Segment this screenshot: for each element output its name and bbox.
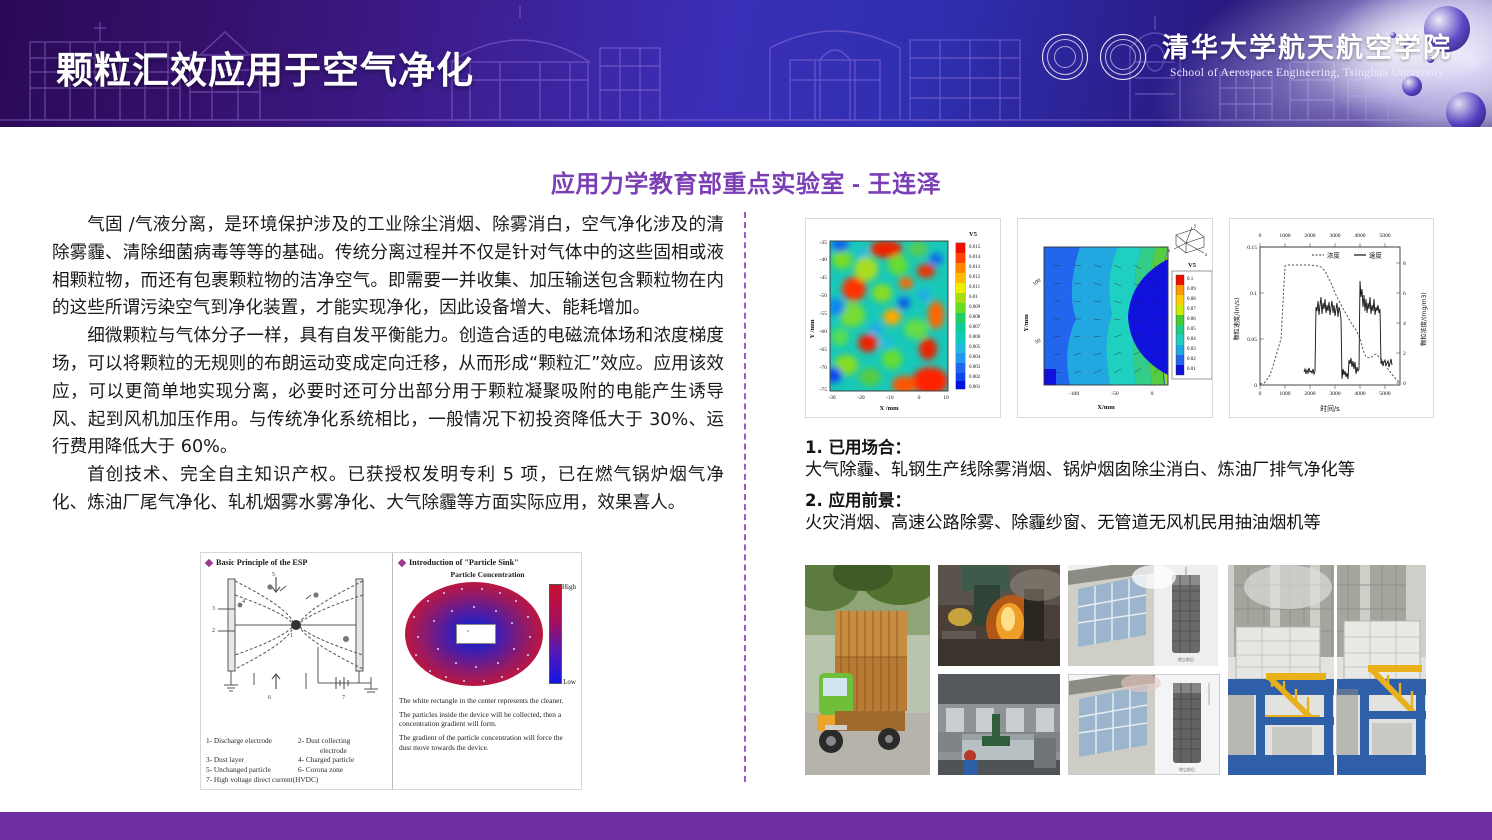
svg-text:6: 6: [1403, 291, 1406, 297]
svg-text:-30: -30: [828, 395, 836, 401]
svg-text:-75: -75: [820, 387, 828, 393]
chart-2-xlabel: X/mm: [1097, 404, 1115, 411]
svg-text:0.012: 0.012: [969, 275, 981, 280]
svg-text:0.005: 0.005: [969, 345, 981, 350]
svg-text:3000: 3000: [1329, 391, 1340, 397]
slide-header: 颗粒汇效应用于空气净化 清华大学航天航空学院 School of Aerospa…: [0, 0, 1492, 127]
svg-text:0.004: 0.004: [969, 355, 981, 360]
body-paragraph-2: 细微颗粒与气体分子一样，具有自发平衡能力。创造合适的电磁流体场和浓度梯度场，可以…: [52, 323, 724, 462]
chart-2-colorbar: V5 0.10.090.08 0.070.060.05 0.04: [1172, 262, 1212, 379]
svg-text:-70: -70: [820, 365, 828, 371]
note-line: The gradient of the particle concentrati…: [399, 733, 576, 752]
svg-text:3: 3: [212, 606, 215, 612]
esp-legend-item: electrode: [298, 746, 347, 756]
svg-text:V5: V5: [969, 231, 978, 238]
chart-3-y2label: 颗粒浓度/(mg/m3): [1420, 292, 1428, 346]
svg-text:0: 0: [918, 395, 921, 401]
left-text-column: 气固 /气液分离，是环境保护涉及的工业除尘消烟、除雾消白，空气净化涉及的清除雾霾…: [52, 212, 724, 518]
note-line: The white rectangle in the center repres…: [399, 696, 576, 706]
svg-text:速度: 速度: [1369, 251, 1382, 260]
svg-text:0.006: 0.006: [969, 335, 981, 340]
bullet-body-2: 火灾消烟、高速公路除雾、除霾纱窗、无管道无风机民用抽油烟机等: [805, 511, 1445, 537]
slide-subtitle: 应用力学教育部重点实验室 - 王连泽: [0, 164, 1492, 199]
aerospace-school-seal-icon: [1100, 34, 1146, 80]
bullet-head-2: 2. 应用前景：: [805, 487, 1445, 511]
esp-legend-list: 1- Discharge electrode2- Dust collecting…: [206, 736, 388, 785]
body-paragraph-1: 气固 /气液分离，是环境保护涉及的工业除尘消烟、除雾消白，空气净化涉及的清除雾霾…: [52, 212, 724, 323]
svg-text:2: 2: [212, 628, 215, 634]
svg-text:0.009: 0.009: [969, 305, 981, 310]
svg-text:0.002: 0.002: [969, 375, 981, 380]
svg-text:-100: -100: [1069, 391, 1079, 397]
esp-legend-item: 6- Corona zone: [298, 765, 343, 775]
column-divider: [744, 212, 746, 782]
svg-text:除尘前后: 除尘前后: [1178, 656, 1194, 662]
esp-legend-item: 3- Dust layer: [206, 755, 298, 765]
svg-text:-10: -10: [886, 395, 894, 401]
svg-text:0.05: 0.05: [1247, 337, 1257, 343]
particle-concentration-title: Particle Concentration: [399, 570, 576, 579]
photo-mobile-purifier-truck: [805, 565, 930, 775]
svg-text:-50: -50: [1111, 391, 1119, 397]
colorbar-high-label: High: [562, 583, 576, 591]
photo-column-stack: 除尘前后: [1068, 565, 1220, 775]
svg-text:V5: V5: [1188, 262, 1197, 269]
slide-footer-bar: [0, 812, 1492, 840]
svg-text:y: y: [1194, 224, 1197, 229]
svg-text:0.01: 0.01: [1187, 367, 1196, 372]
svg-text:0.07: 0.07: [1187, 307, 1196, 312]
svg-text:-55: -55: [820, 311, 828, 317]
svg-text:0.003: 0.003: [969, 365, 981, 370]
chart-2-axis-triad: [1174, 227, 1204, 253]
esp-legend-item: 4- Charged particle: [298, 755, 354, 765]
particle-sink-notes: The white rectangle in the center repres…: [399, 696, 576, 752]
cleaner-rectangle: [456, 624, 496, 644]
svg-text:-40: -40: [820, 257, 828, 263]
svg-text:7: 7: [342, 695, 345, 701]
svg-text:2: 2: [1403, 351, 1406, 357]
photo-building-and-stack-bottom: 除尘前后: [1068, 674, 1220, 775]
tsinghua-university-seal-icon: [1042, 34, 1088, 80]
bullet-head-1: 1. 已用场合：: [805, 434, 1445, 458]
header-logo-text: 清华大学航天航空学院 School of Aerospace Engineeri…: [1162, 35, 1452, 78]
photo-workshop-equipment: [938, 674, 1060, 775]
chart-2-ylabel: Y/mm: [1023, 314, 1030, 332]
svg-text:4: 4: [1403, 321, 1406, 327]
svg-text:3000: 3000: [1329, 233, 1340, 239]
svg-text:0.02: 0.02: [1187, 357, 1196, 362]
esp-schematic-diagram: 54 32 167: [206, 569, 390, 701]
bullet-diamond-icon: [205, 558, 213, 566]
chart-1-ylabel: Y /mm: [809, 319, 816, 338]
chart-contour-vectors: yxz V5 0: [1017, 218, 1213, 418]
chart-1-svg: V5 0.0150.0140.013 0.0120.0110.01 0.0090…: [806, 219, 1001, 417]
svg-text:-20: -20: [857, 395, 865, 401]
esp-left-panel-title: Basic Principle of the ESP: [206, 558, 388, 567]
bullet-body-1: 大气除霾、轧钢生产线除雾消烟、锅炉烟囱除尘消白、炼油厂排气净化等: [805, 458, 1445, 484]
svg-text:x: x: [1168, 249, 1171, 254]
header-logo-cn: 清华大学航天航空学院: [1162, 35, 1452, 63]
esp-legend-item: 2- Dust collecting: [298, 736, 350, 746]
esp-right-panel: Introduction of "Particle Sink" Particle…: [393, 553, 581, 789]
svg-text:0.1: 0.1: [1187, 277, 1194, 282]
esp-left-title-text: Basic Principle of the ESP: [216, 558, 307, 567]
svg-text:0.001: 0.001: [969, 385, 981, 390]
svg-text:1: 1: [290, 633, 293, 639]
svg-text:0.014: 0.014: [969, 255, 981, 260]
esp-right-title-text: Introduction of "Particle Sink": [409, 558, 519, 567]
svg-text:0.008: 0.008: [969, 315, 981, 320]
esp-legend-item: 5- Unchanged particle: [206, 765, 298, 775]
esp-principle-figure: Basic Principle of the ESP: [200, 552, 582, 790]
svg-text:0.013: 0.013: [969, 265, 981, 270]
photo-industrial-plant-platform: [1228, 565, 1426, 775]
svg-text:0: 0: [1259, 233, 1262, 239]
svg-text:-60: -60: [820, 329, 828, 335]
svg-text:0: 0: [1254, 383, 1257, 389]
particle-concentration-figure: High Low: [399, 580, 576, 692]
svg-text:2000: 2000: [1304, 233, 1315, 239]
application-photo-grid: 除尘前后: [805, 565, 1442, 775]
chart-2-svg: yxz V5 0: [1018, 219, 1213, 417]
svg-text:0: 0: [1151, 391, 1154, 397]
chart-3-svg: 010002000 300040005000 010002000 3000400…: [1230, 219, 1434, 417]
svg-text:-65: -65: [820, 347, 828, 353]
chart-3-xlabel: 时间/s: [1320, 404, 1340, 413]
header-title: 颗粒汇效应用于空气净化: [56, 40, 474, 94]
esp-right-panel-title: Introduction of "Particle Sink": [399, 558, 576, 567]
svg-text:4000: 4000: [1354, 233, 1365, 239]
photo-building-and-stack-top: 除尘前后: [1068, 565, 1220, 666]
svg-text:100: 100: [1032, 278, 1042, 288]
esp-left-panel: Basic Principle of the ESP: [201, 553, 393, 789]
svg-text:0: 0: [1259, 391, 1262, 397]
svg-text:6: 6: [268, 695, 271, 701]
svg-text:1000: 1000: [1279, 391, 1290, 397]
svg-text:0.015: 0.015: [969, 245, 981, 250]
note-line: The particles inside the device will be …: [399, 710, 576, 729]
svg-text:5: 5: [272, 572, 275, 578]
chart-velocity-heatmap: V5 0.0150.0140.013 0.0120.0110.01 0.0090…: [805, 218, 1001, 418]
svg-text:-35: -35: [820, 240, 828, 246]
colorbar-low-label: Low: [563, 678, 576, 686]
photo-column-mill: [938, 565, 1060, 775]
svg-text:0.011: 0.011: [969, 285, 981, 290]
body-paragraph-3: 首创技术、完全自主知识产权。已获授权发明专利 5 项，已在燃气锅炉烟气净化、炼油…: [52, 462, 724, 518]
svg-text:0.15: 0.15: [1247, 245, 1257, 251]
svg-text:0.04: 0.04: [1187, 337, 1196, 342]
svg-text:除尘前后: 除尘前后: [1179, 766, 1195, 772]
svg-text:0.1: 0.1: [1250, 291, 1257, 297]
svg-text:5000: 5000: [1379, 391, 1390, 397]
svg-text:50: 50: [1034, 338, 1042, 346]
svg-text:-45: -45: [820, 275, 828, 281]
photo-steel-mill-furnace: [938, 565, 1060, 666]
svg-text:10: 10: [943, 395, 949, 401]
svg-text:0.09: 0.09: [1187, 287, 1196, 292]
esp-legend-item: 7- High voltage direct current(HVDC): [206, 775, 318, 785]
svg-text:-50: -50: [820, 293, 828, 299]
application-bullet-list: 1. 已用场合： 大气除霾、轧钢生产线除雾消烟、锅炉烟囱除尘消白、炼油厂排气净化…: [805, 432, 1445, 540]
header-logo-group: 清华大学航天航空学院 School of Aerospace Engineeri…: [1042, 34, 1452, 80]
svg-text:5000: 5000: [1379, 233, 1390, 239]
svg-text:4: 4: [242, 599, 245, 605]
svg-text:0: 0: [1403, 381, 1406, 387]
svg-text:8: 8: [1403, 261, 1406, 267]
svg-text:0.007: 0.007: [969, 325, 981, 330]
chart-1-xlabel: X /mm: [879, 405, 899, 412]
slide-root: 颗粒汇效应用于空气净化 清华大学航天航空学院 School of Aerospa…: [0, 0, 1492, 840]
esp-legend-item: 1- Discharge electrode: [206, 736, 298, 746]
svg-text:0.06: 0.06: [1187, 317, 1196, 322]
svg-text:浓度: 浓度: [1327, 251, 1340, 260]
svg-text:0.01: 0.01: [969, 295, 978, 300]
esp-legend-item: [206, 746, 298, 756]
svg-text:z: z: [1205, 253, 1208, 258]
svg-text:0.05: 0.05: [1187, 327, 1196, 332]
chart-1-colorbar: [956, 243, 965, 389]
svg-text:0.08: 0.08: [1187, 297, 1196, 302]
svg-text:4000: 4000: [1354, 391, 1365, 397]
bullet-diamond-icon: [398, 558, 406, 566]
concentration-colorbar: [549, 584, 562, 684]
chart-velocity-concentration-time: 010002000 300040005000 010002000 3000400…: [1229, 218, 1434, 418]
svg-text:1000: 1000: [1279, 233, 1290, 239]
chart-row: V5 0.0150.0140.013 0.0120.0110.01 0.0090…: [805, 218, 1442, 418]
chart-3-ylabel: 颗粒速度/(m/s): [1233, 298, 1241, 341]
header-logo-en: School of Aerospace Engineering, Tsinghu…: [1170, 67, 1444, 79]
svg-text:2000: 2000: [1304, 391, 1315, 397]
svg-text:0.03: 0.03: [1187, 347, 1196, 352]
decorative-bubble: [1446, 92, 1486, 127]
